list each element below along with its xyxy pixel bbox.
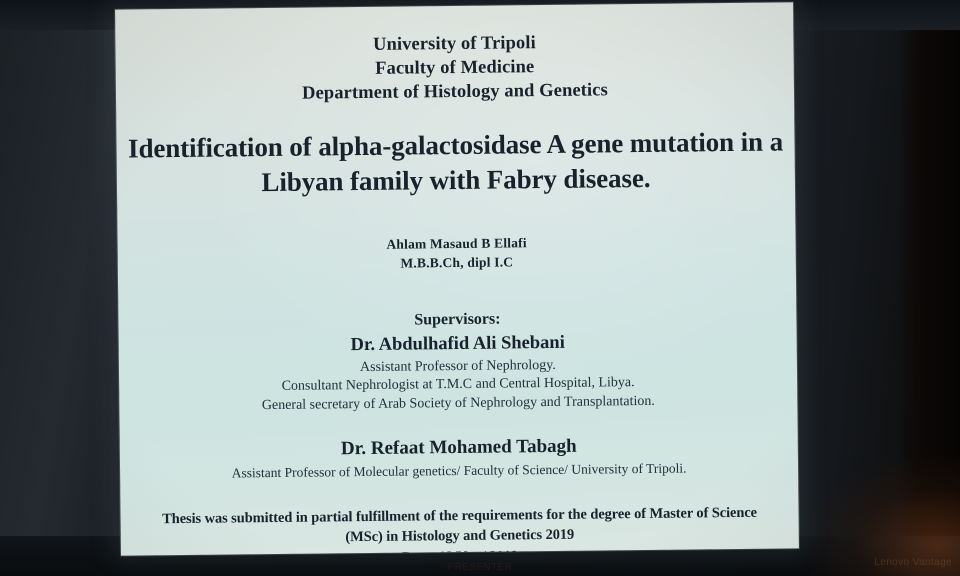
supervisor-entry: Dr. Abdulhafid Ali Shebani Assistant Pro…: [119, 328, 798, 417]
slide-content: University of Tripoli Faculty of Medicin…: [115, 2, 799, 555]
submission-statement: Thesis was submitted in partial fulfillm…: [120, 502, 798, 555]
supervisor-entry: Dr. Refaat Mohamed Tabagh Assistant Prof…: [120, 432, 798, 484]
thesis-title: Identification of alpha-galactosidase A …: [116, 124, 795, 200]
photo-frame: Lenovo Vantage PRESENTER University of T…: [0, 0, 960, 576]
thesis-title-line-1: Identification of alpha-galactosidase A …: [124, 125, 786, 167]
photo-left-border: [0, 0, 130, 576]
faint-corner-text: Lenovo Vantage: [874, 557, 952, 568]
author-block: Ahlam Masaud B Ellafi M.B.B.Ch, dipl I.C: [118, 232, 796, 277]
institution-header: University of Tripoli Faculty of Medicin…: [115, 2, 794, 107]
presentation-slide: University of Tripoli Faculty of Medicin…: [115, 2, 799, 555]
faint-bottom-text: PRESENTER: [448, 562, 513, 573]
supervisors-block: Supervisors: Dr. Abdulhafid Ali Shebani …: [118, 305, 798, 483]
thesis-title-line-2: Libyan family with Fabry disease.: [125, 159, 787, 201]
